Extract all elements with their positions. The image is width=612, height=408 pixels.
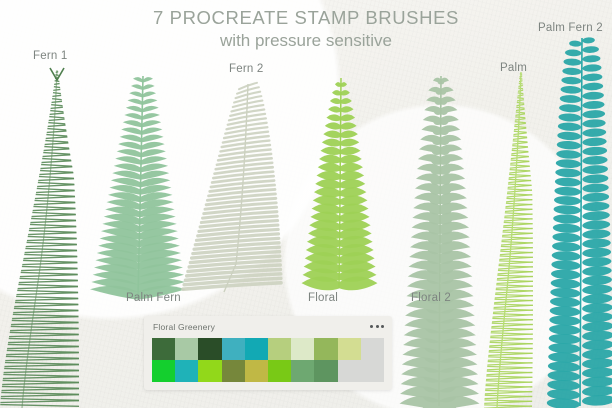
palm-fern-2-artwork bbox=[548, 36, 612, 408]
color-swatch[interactable] bbox=[222, 360, 245, 382]
brush-floral-2[interactable] bbox=[398, 72, 484, 408]
color-swatch[interactable] bbox=[361, 360, 384, 382]
label-floral: Floral bbox=[308, 292, 338, 304]
fern-2-artwork bbox=[196, 78, 300, 296]
color-swatch[interactable] bbox=[175, 338, 198, 360]
label-fern-2: Fern 2 bbox=[229, 63, 263, 75]
label-palm: Palm bbox=[500, 62, 527, 74]
brush-palm-fern[interactable] bbox=[95, 72, 191, 297]
dot-2 bbox=[376, 325, 379, 328]
floral-2-artwork bbox=[398, 72, 484, 408]
color-swatch[interactable] bbox=[314, 360, 337, 382]
color-swatch[interactable] bbox=[291, 360, 314, 382]
color-swatch[interactable] bbox=[245, 338, 268, 360]
color-swatch[interactable] bbox=[198, 360, 221, 382]
color-swatch[interactable] bbox=[338, 338, 361, 360]
palette-title: Floral Greenery bbox=[153, 322, 215, 332]
label-palm-fern: Palm Fern bbox=[126, 292, 181, 304]
palm-fern-artwork bbox=[95, 72, 191, 297]
label-palm-fern-2: Palm Fern 2 bbox=[538, 22, 603, 34]
color-palette-panel[interactable]: Floral Greenery bbox=[144, 316, 392, 390]
color-swatch[interactable] bbox=[198, 338, 221, 360]
brush-floral[interactable] bbox=[300, 74, 382, 290]
color-swatch[interactable] bbox=[314, 338, 337, 360]
color-swatch[interactable] bbox=[338, 360, 361, 382]
floral-artwork bbox=[300, 74, 382, 290]
color-swatch[interactable] bbox=[361, 338, 384, 360]
color-swatch[interactable] bbox=[152, 338, 175, 360]
color-swatch[interactable] bbox=[152, 360, 175, 382]
swatch-row-1[interactable] bbox=[152, 338, 384, 360]
color-swatch[interactable] bbox=[268, 360, 291, 382]
title-line-2: with pressure sensitive bbox=[0, 30, 612, 52]
title-line-1: 7 PROCREATE STAMP BRUSHES bbox=[0, 6, 612, 30]
more-options-icon[interactable] bbox=[370, 325, 384, 329]
brush-fern-2[interactable] bbox=[196, 78, 300, 296]
palette-header: Floral Greenery bbox=[144, 316, 392, 338]
label-fern-1: Fern 1 bbox=[33, 50, 67, 62]
dot-1 bbox=[370, 325, 373, 328]
dot-3 bbox=[381, 325, 384, 328]
color-swatch[interactable] bbox=[268, 338, 291, 360]
swatch-row-2[interactable] bbox=[152, 360, 384, 382]
poster-canvas: 7 PROCREATE STAMP BRUSHES with pressure … bbox=[0, 0, 612, 408]
color-swatch[interactable] bbox=[222, 338, 245, 360]
color-swatch[interactable] bbox=[175, 360, 198, 382]
label-floral-2: Floral 2 bbox=[411, 292, 451, 304]
color-swatch[interactable] bbox=[291, 338, 314, 360]
page-title: 7 PROCREATE STAMP BRUSHES with pressure … bbox=[0, 6, 612, 52]
color-swatch[interactable] bbox=[245, 360, 268, 382]
brush-palm-fern-2[interactable] bbox=[548, 36, 612, 408]
